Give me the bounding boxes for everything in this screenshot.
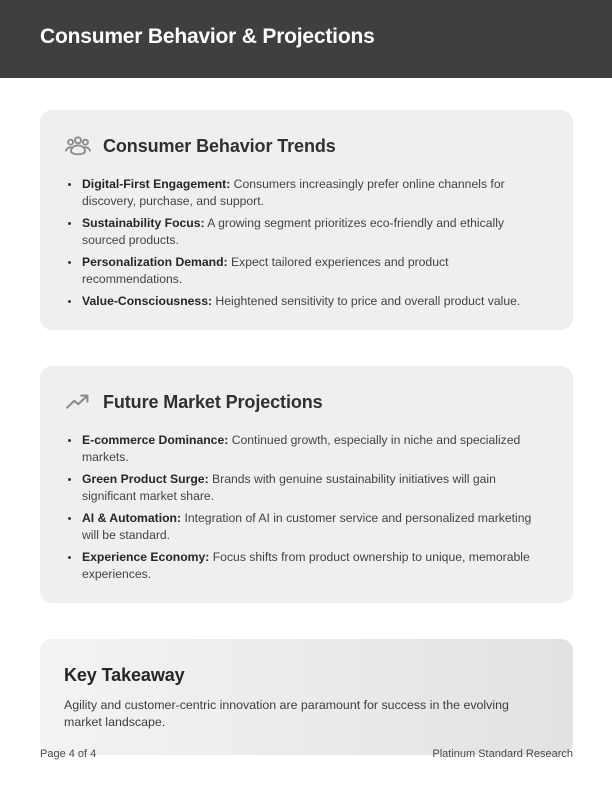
list-item: Experience Economy: Focus shifts from pr… <box>64 549 549 583</box>
bullet-term: Personalization Demand: <box>82 255 228 269</box>
takeaway-title: Key Takeaway <box>64 665 549 686</box>
page-content: Consumer Behavior Trends Digital-First E… <box>40 110 573 755</box>
card-header: Consumer Behavior Trends <box>64 132 549 160</box>
bullet-term: Experience Economy: <box>82 550 209 564</box>
card-future-market-projections: Future Market Projections E-commerce Dom… <box>40 366 573 603</box>
report-page: Consumer Behavior & Projections Consumer… <box>0 0 612 792</box>
list-item: E-commerce Dominance: Continued growth, … <box>64 432 549 466</box>
bullet-list: E-commerce Dominance: Continued growth, … <box>64 432 549 583</box>
page-header: Consumer Behavior & Projections <box>0 0 612 78</box>
card-consumer-behavior-trends: Consumer Behavior Trends Digital-First E… <box>40 110 573 330</box>
bullet-term: Green Product Surge: <box>82 472 209 486</box>
card-header: Future Market Projections <box>64 388 549 416</box>
bullet-description: Heightened sensitivity to price and over… <box>212 294 520 308</box>
card-title: Future Market Projections <box>103 392 323 413</box>
card-title: Consumer Behavior Trends <box>103 136 336 157</box>
footer-page-number: Page 4 of 4 <box>40 748 96 760</box>
takeaway-text: Agility and customer-centric innovation … <box>64 697 534 731</box>
page-footer: Page 4 of 4 Platinum Standard Research <box>40 748 573 760</box>
bullet-term: AI & Automation: <box>82 511 181 525</box>
list-item: Personalization Demand: Expect tailored … <box>64 254 549 288</box>
footer-source: Platinum Standard Research <box>432 748 573 760</box>
list-item: Green Product Surge: Brands with genuine… <box>64 471 549 505</box>
bullet-term: Digital-First Engagement: <box>82 177 230 191</box>
list-item: Sustainability Focus: A growing segment … <box>64 215 549 249</box>
bullet-term: Value-Consciousness: <box>82 294 212 308</box>
list-item: AI & Automation: Integration of AI in cu… <box>64 510 549 544</box>
list-item: Value-Consciousness: Heightened sensitiv… <box>64 293 549 310</box>
people-group-icon <box>64 132 92 160</box>
trending-up-icon <box>64 388 92 416</box>
bullet-list: Digital-First Engagement: Consumers incr… <box>64 176 549 310</box>
bullet-term: E-commerce Dominance: <box>82 433 228 447</box>
card-key-takeaway: Key Takeaway Agility and customer-centri… <box>40 639 573 755</box>
list-item: Digital-First Engagement: Consumers incr… <box>64 176 549 210</box>
page-title: Consumer Behavior & Projections <box>40 25 375 49</box>
bullet-term: Sustainability Focus: <box>82 216 205 230</box>
